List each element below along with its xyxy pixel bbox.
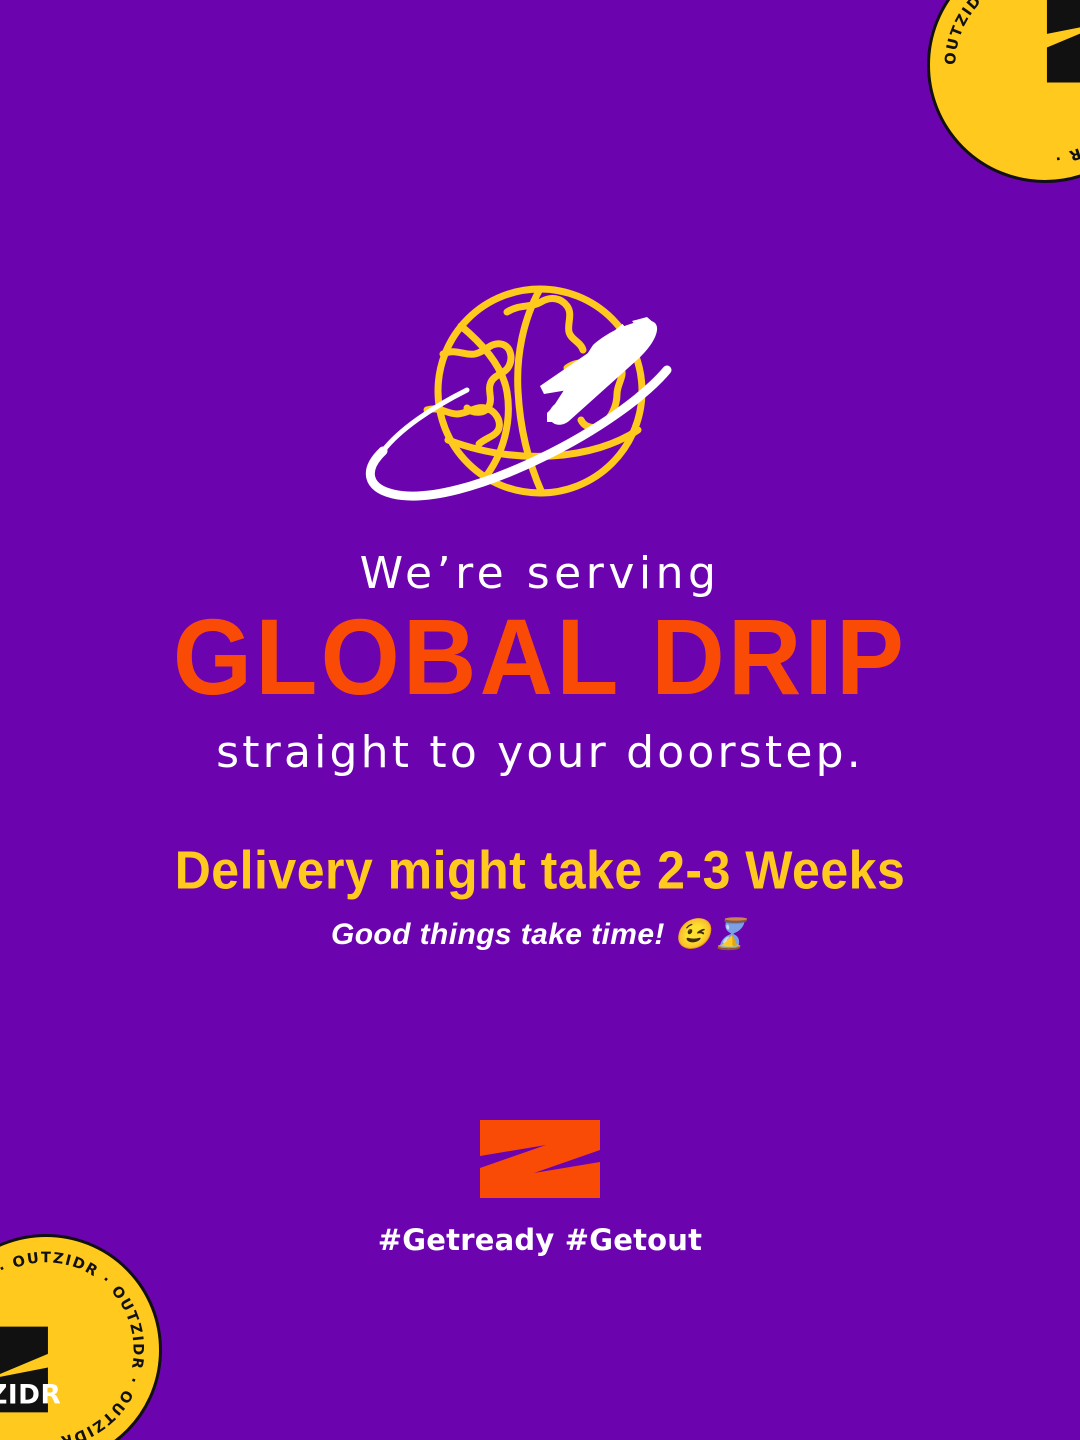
outzidr-badge-bottom-left: OUTZIDR · OUTZIDR · OUTZIDR · OUTZIDR · …: [0, 1234, 162, 1440]
globe-airplane-illustration: [355, 272, 725, 517]
copy-block: We’re serving GLOBAL DRIP straight to yo…: [0, 548, 1080, 952]
delivery-notice-text: Delivery might take 2-3 Weeks: [0, 838, 1080, 901]
subhead-text: straight to your doorstep.: [0, 727, 1080, 779]
outzidr-badge-top-right: OUTZIDR · OUTZIDR · OUTZIDR · OUTZIDR ·: [927, 0, 1080, 183]
hashtags-text: #Getready #Getout: [0, 1223, 1080, 1257]
outzidr-z-logo: [478, 1118, 602, 1200]
badge-wordmark-bar: OUTZIDR: [0, 1379, 61, 1412]
poster-canvas: OUTZIDR · OUTZIDR · OUTZIDR · OUTZIDR · …: [0, 0, 1080, 1440]
badge-wordmark: OUTZIDR: [0, 1381, 61, 1411]
reassurance-text: Good things take time! 😉⌛: [0, 917, 1080, 952]
footer-block: #Getready #Getout: [0, 1118, 1080, 1257]
headline-text: GLOBAL DRIP: [0, 602, 1080, 715]
badge-z-mark: [1047, 0, 1080, 83]
eyebrow-text: We’re serving: [0, 548, 1080, 600]
